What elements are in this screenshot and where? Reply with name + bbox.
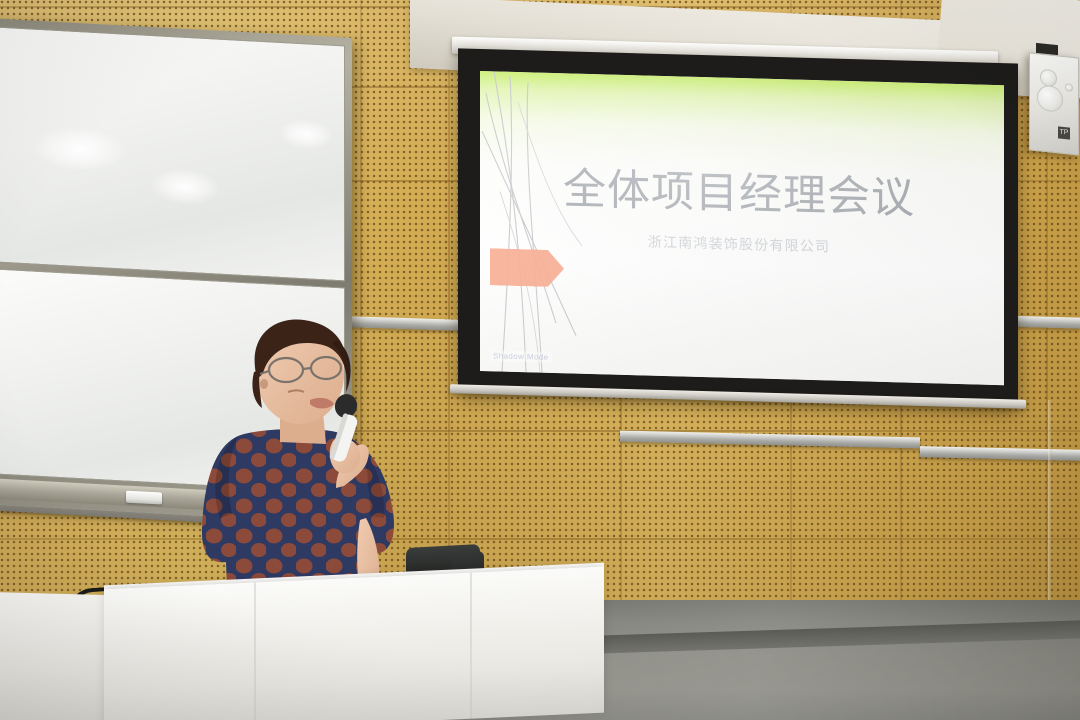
glare-highlight — [280, 119, 332, 150]
slide-watermark: Shadow Mode — [490, 350, 552, 363]
whiteboard-upper-panel — [0, 26, 345, 281]
projection-screen-surface: 全体项目经理会议 浙江南鸿装饰股份有限公司 Shadow Mode — [480, 71, 1004, 385]
conference-room-photo: 全体项目经理会议 浙江南鸿装饰股份有限公司 Shadow Mode TP — [0, 0, 1080, 720]
glare-highlight — [152, 168, 218, 206]
wall-seam — [0, 538, 1080, 540]
projection-screen: 全体项目经理会议 浙江南鸿装饰股份有限公司 Shadow Mode — [458, 48, 1018, 407]
grass-decoration-icon — [480, 71, 660, 376]
presenter-earring — [260, 379, 268, 389]
wall-speaker: TP — [1029, 52, 1079, 155]
podium-seam — [254, 582, 256, 720]
speaker-midrange-icon — [1040, 69, 1057, 88]
podium[interactable] — [104, 567, 604, 720]
whiteboard-eraser[interactable] — [126, 491, 162, 505]
glare-highlight — [34, 126, 124, 173]
speaker-tweeter-icon — [1065, 83, 1073, 92]
podium-seam — [470, 573, 472, 719]
speaker-brand-logo: TP — [1058, 126, 1070, 139]
speaker-woofer-icon — [1037, 84, 1063, 113]
presentation-slide: 全体项目经理会议 浙江南鸿装饰股份有限公司 Shadow Mode — [480, 71, 1004, 385]
